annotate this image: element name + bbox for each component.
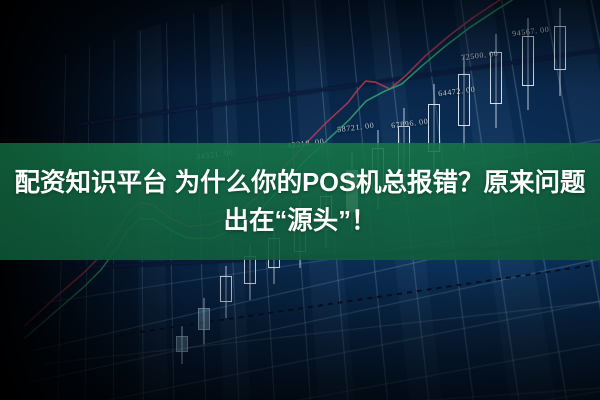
headline-text: 配资知识平台 为什么你的POS机总报错？原来问题 出在“源头”！ xyxy=(2,164,598,240)
chart-background-image: 94567. 0072500. 0064472. 0067896. 005872… xyxy=(0,0,600,400)
headline-line-2: 出在“源头”！ xyxy=(2,202,598,240)
headline-line-1: 配资知识平台 为什么你的POS机总报错？原来问题 xyxy=(15,169,586,197)
headline-banner: 配资知识平台 为什么你的POS机总报错？原来问题 出在“源头”！ xyxy=(0,143,600,260)
